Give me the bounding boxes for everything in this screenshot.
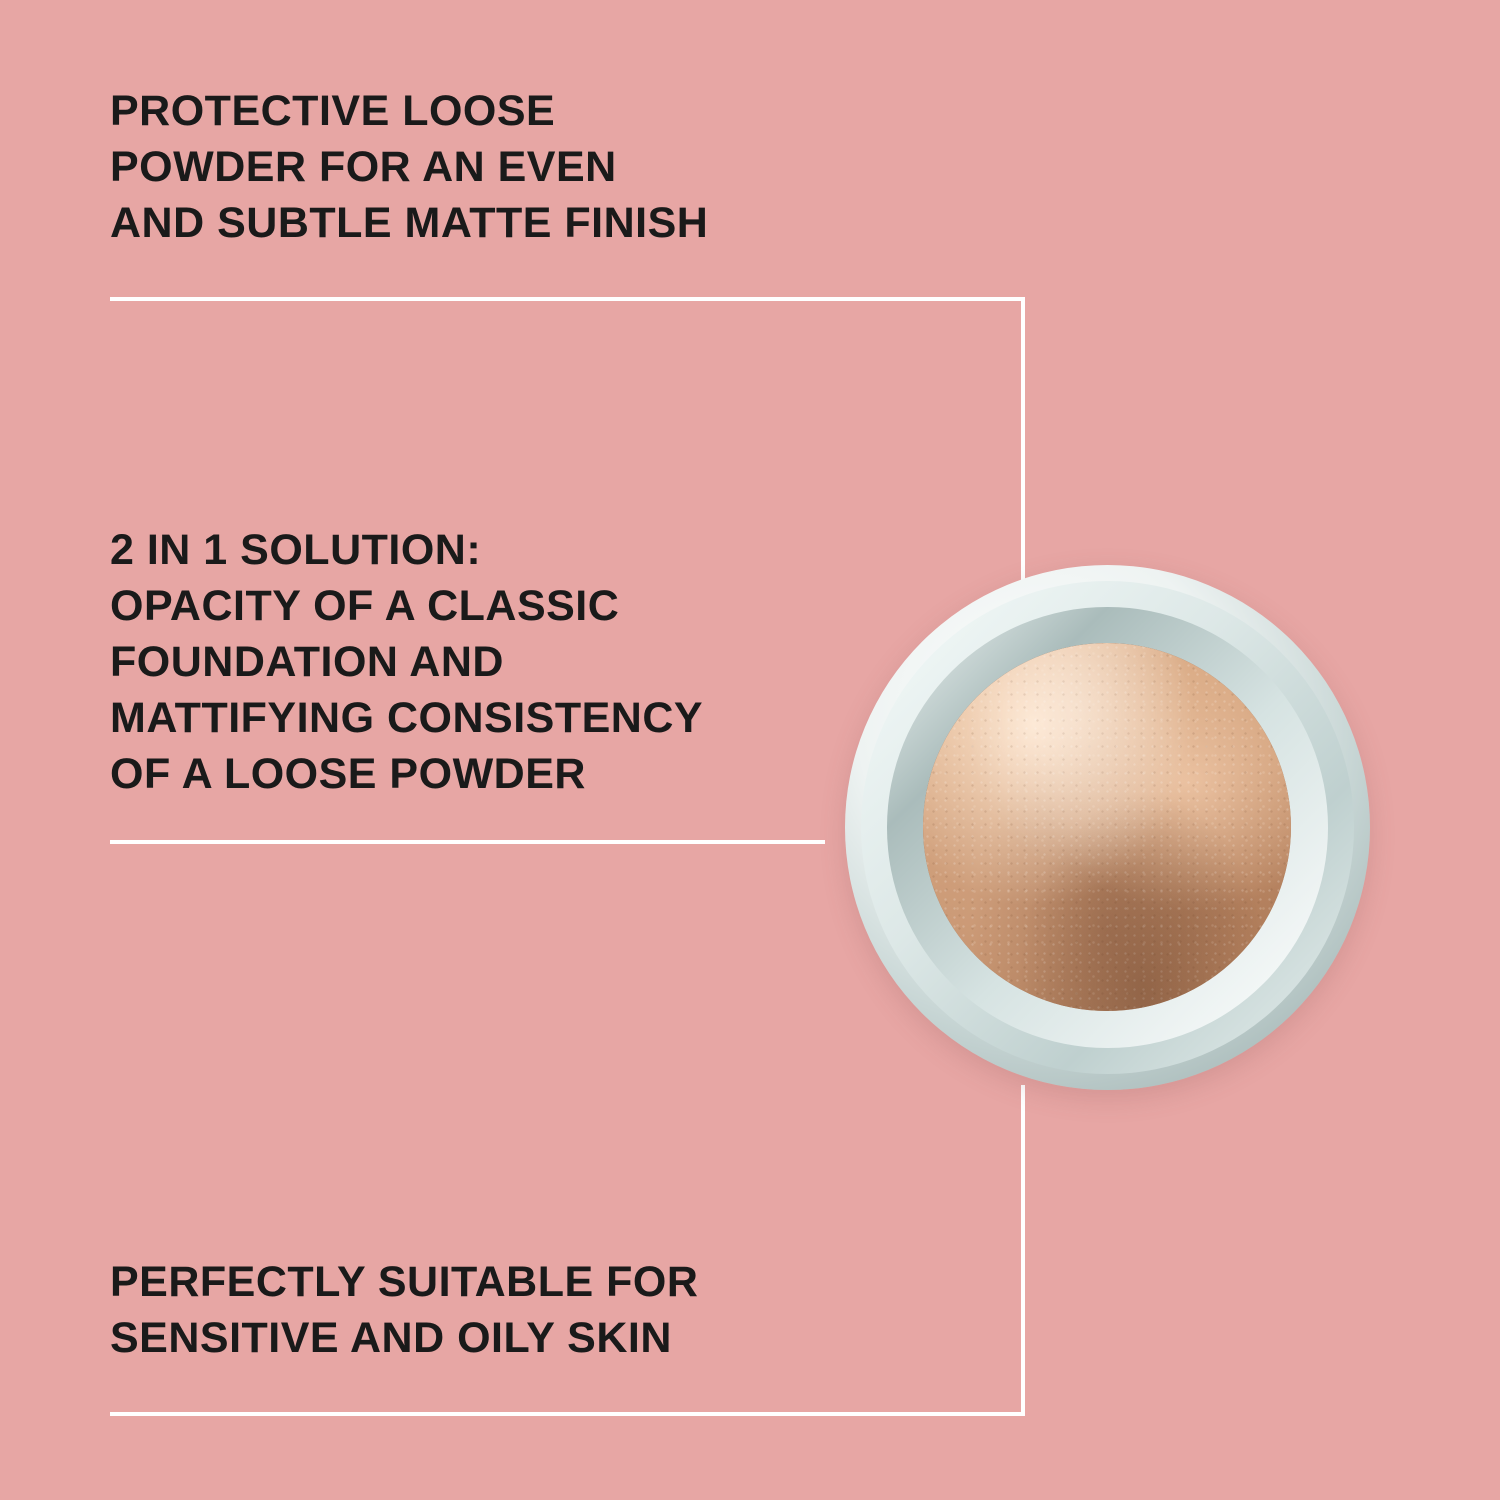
jar-outer-rim xyxy=(845,565,1370,1090)
jar-powder-well xyxy=(923,643,1291,1011)
powder-highlight xyxy=(923,643,1291,1011)
divider-line-bottom xyxy=(110,1412,1025,1416)
claim-text-top: PROTECTIVE LOOSE POWDER FOR AN EVEN AND … xyxy=(110,84,708,252)
divider-line-top xyxy=(110,297,1025,301)
divider-line-vertical-lower xyxy=(1021,1085,1025,1416)
jar-rim-ring-2 xyxy=(887,607,1327,1047)
jar-rim-ring-1 xyxy=(861,581,1355,1075)
loose-powder-jar-image xyxy=(845,565,1370,1090)
product-feature-graphic: PROTECTIVE LOOSE POWDER FOR AN EVEN AND … xyxy=(0,0,1500,1500)
divider-line-middle xyxy=(110,840,825,844)
claim-text-bottom: PERFECTLY SUITABLE FOR SENSITIVE AND OIL… xyxy=(110,1255,698,1367)
claim-text-middle: 2 IN 1 SOLUTION: OPACITY OF A CLASSIC FO… xyxy=(110,523,703,802)
